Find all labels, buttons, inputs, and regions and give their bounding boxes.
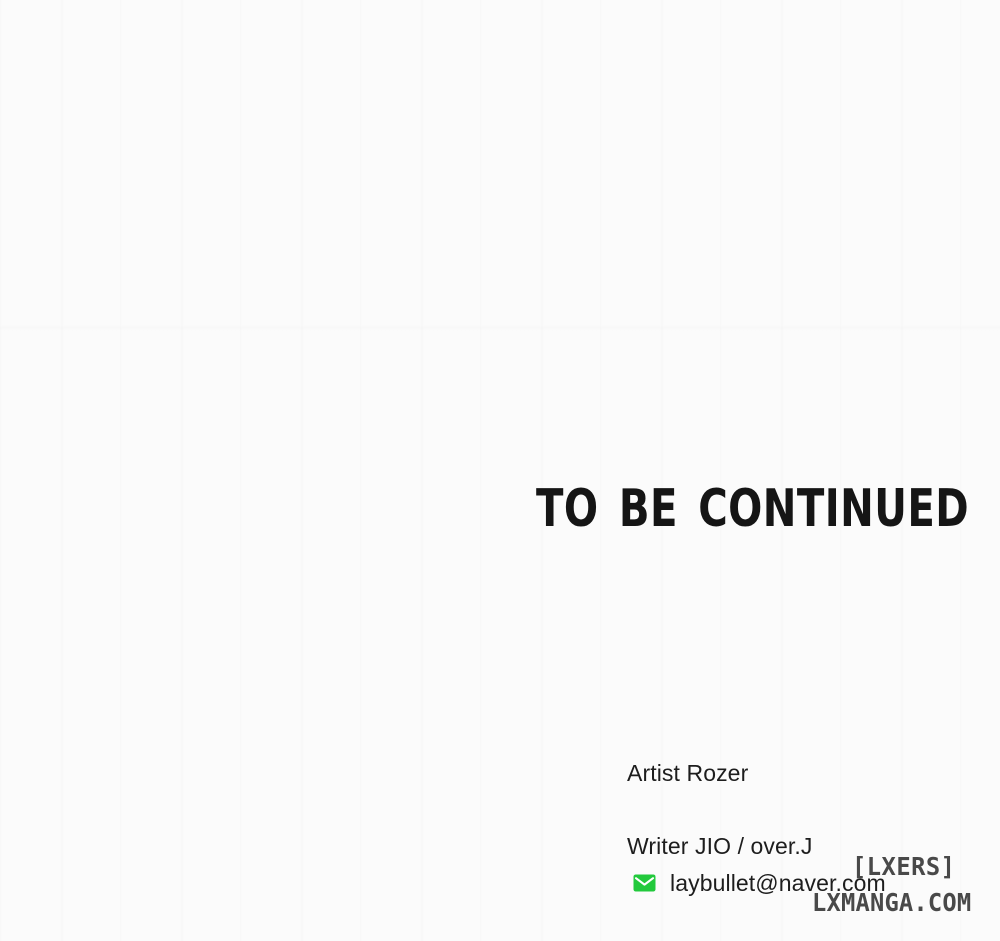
writer-credit-line: Writer JIO / over.J — [627, 831, 813, 861]
artist-credit-line: Artist Rozer — [627, 758, 748, 788]
envelope-icon — [633, 874, 656, 892]
to-be-continued-headline: To be continued — [536, 462, 969, 540]
watermark-site-label: LXMANGA.COM — [812, 888, 971, 917]
comic-page-canvas: To be continued Artist Rozer Writer JIO … — [0, 0, 1000, 941]
watermark-group-label: [LXERS] — [852, 852, 955, 881]
